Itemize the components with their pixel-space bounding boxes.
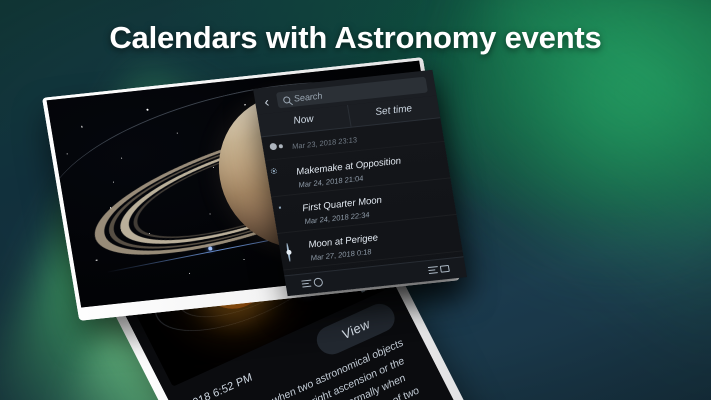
events-panel: ‹ Search Now Set time Mar 23, 2018 23:13 xyxy=(253,70,467,296)
half-moon-icon xyxy=(280,206,297,222)
conjunction-icon xyxy=(269,139,286,155)
event-date: Mar 23, 2018 23:13 xyxy=(291,135,357,151)
perigee-orbit-icon xyxy=(286,242,303,258)
event-list-clock-icon[interactable] xyxy=(301,277,323,288)
filter-flag-icon[interactable] xyxy=(428,264,450,274)
opposition-sun-icon xyxy=(274,169,291,185)
moon-marker-icon xyxy=(208,246,213,250)
device-stage: Moon and Jupiter 2018 6:52 PM xyxy=(0,0,711,400)
page-title: Calendars with Astronomy events xyxy=(0,20,711,56)
back-chevron-icon[interactable]: ‹ xyxy=(261,94,272,109)
search-icon xyxy=(282,96,290,104)
search-placeholder: Search xyxy=(293,91,323,104)
